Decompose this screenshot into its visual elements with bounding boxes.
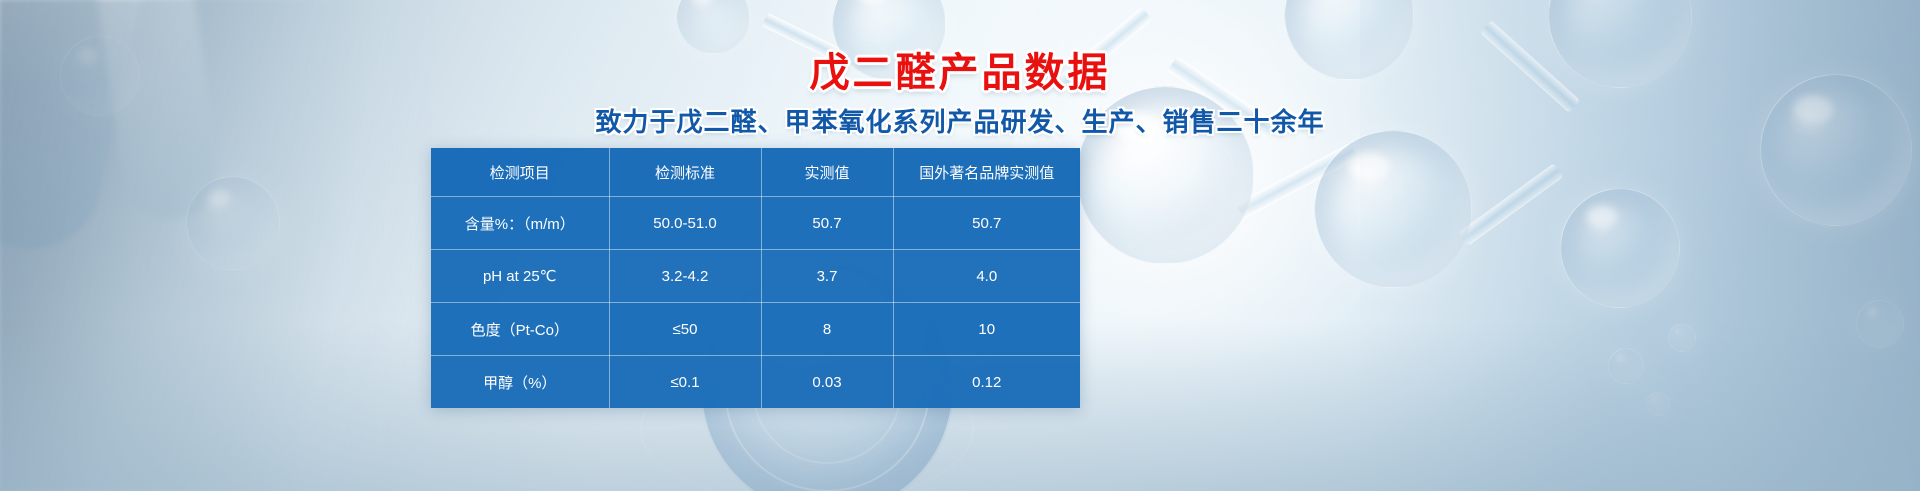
banner-headings: 戊二醛产品数据 致力于戊二醛、甲苯氧化系列产品研发、生产、销售二十余年 <box>0 52 1920 137</box>
cell-standard: ≤50 <box>609 303 761 356</box>
column-header-measured: 实测值 <box>761 148 893 197</box>
cell-foreign: 50.7 <box>893 197 1080 250</box>
table-row: pH at 25℃ 3.2-4.2 3.7 4.0 <box>431 250 1080 303</box>
cell-foreign: 10 <box>893 303 1080 356</box>
cell-foreign: 0.12 <box>893 356 1080 409</box>
page-subtitle: 致力于戊二醛、甲苯氧化系列产品研发、生产、销售二十余年 <box>0 108 1920 137</box>
cell-foreign: 4.0 <box>893 250 1080 303</box>
product-data-banner: 戊二醛产品数据 致力于戊二醛、甲苯氧化系列产品研发、生产、销售二十余年 检测项目… <box>0 0 1920 491</box>
cell-item: 含量%：（m/m） <box>431 197 609 250</box>
table-row: 含量%：（m/m） 50.0-51.0 50.7 50.7 <box>431 197 1080 250</box>
cell-standard: 50.0-51.0 <box>609 197 761 250</box>
column-header-foreign: 国外著名品牌实测值 <box>893 148 1080 197</box>
cell-item: 甲醇（%） <box>431 356 609 409</box>
column-header-item: 检测项目 <box>431 148 609 197</box>
cell-measured: 50.7 <box>761 197 893 250</box>
spec-table-container: 检测项目 检测标准 实测值 国外著名品牌实测值 含量%：（m/m） 50.0-5… <box>431 148 1080 408</box>
cell-item: 色度（Pt-Co） <box>431 303 609 356</box>
product-spec-table: 检测项目 检测标准 实测值 国外著名品牌实测值 含量%：（m/m） 50.0-5… <box>431 148 1080 408</box>
cell-standard: 3.2-4.2 <box>609 250 761 303</box>
cell-measured: 0.03 <box>761 356 893 409</box>
page-title: 戊二醛产品数据 <box>0 52 1920 94</box>
column-header-standard: 检测标准 <box>609 148 761 197</box>
table-header-row: 检测项目 检测标准 实测值 国外著名品牌实测值 <box>431 148 1080 197</box>
spec-table-body: 含量%：（m/m） 50.0-51.0 50.7 50.7 pH at 25℃ … <box>431 197 1080 409</box>
table-row: 甲醇（%） ≤0.1 0.03 0.12 <box>431 356 1080 409</box>
cell-measured: 8 <box>761 303 893 356</box>
spec-table-head: 检测项目 检测标准 实测值 国外著名品牌实测值 <box>431 148 1080 197</box>
cell-standard: ≤0.1 <box>609 356 761 409</box>
table-row: 色度（Pt-Co） ≤50 8 10 <box>431 303 1080 356</box>
cell-measured: 3.7 <box>761 250 893 303</box>
cell-item: pH at 25℃ <box>431 250 609 303</box>
